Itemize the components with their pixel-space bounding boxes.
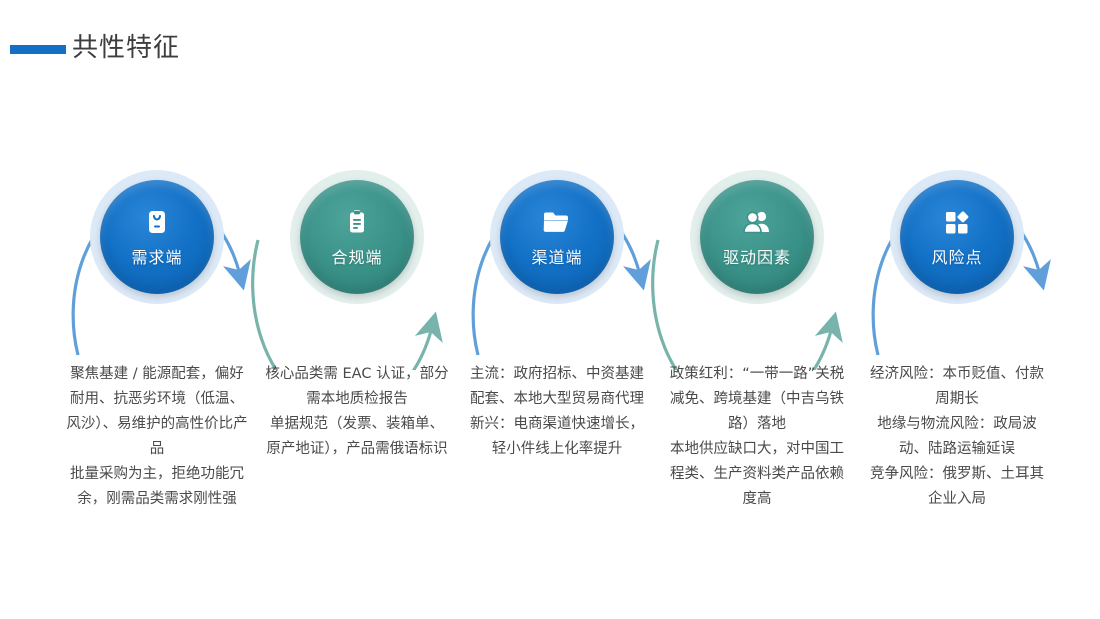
caption-block-3: 主流：政府招标、中资基建配套、本地大型贸易商代理 新兴：电商渠道快速增长，轻小件…	[464, 362, 650, 462]
caption-line: 单据规范（发票、装箱单、原产地证），产品需俄语标识	[264, 412, 450, 462]
users-icon	[742, 207, 772, 237]
caption-line: 本地供应缺口大，对中国工程类、生产资料类产品依赖度高	[664, 437, 850, 512]
caption-line: 核心品类需 EAC 认证，部分需本地质检报告	[264, 362, 450, 412]
title-accent-bar	[10, 45, 66, 54]
page-title: 共性特征	[72, 28, 180, 68]
clipboard-icon	[342, 207, 372, 237]
flow-node-3[interactable]: 渠道端	[490, 170, 624, 304]
node-label: 合规端	[331, 244, 382, 268]
node-label: 需求端	[131, 244, 182, 268]
node-disc: 风险点	[900, 180, 1014, 294]
node-disc: 驱动因素	[700, 180, 814, 294]
caption-line: 政策红利：“一带一路”关税减免、跨境基建（中吉乌铁路）落地	[664, 362, 850, 437]
node-disc: 合规端	[300, 180, 414, 294]
caption-row: 聚焦基建 / 能源配套，偏好耐用、抗恶劣环境（低温、风沙）、易维护的高性价比产品…	[0, 362, 1100, 612]
process-flow-diagram: 需求端 合规端	[0, 110, 1100, 370]
caption-block-2: 核心品类需 EAC 认证，部分需本地质检报告 单据规范（发票、装箱单、原产地证）…	[264, 362, 450, 462]
caption-block-5: 经济风险：本币贬值、付款周期长 地缘与物流风险：政局波动、陆路运输延误 竞争风险…	[864, 362, 1050, 512]
flow-node-1[interactable]: 需求端	[90, 170, 224, 304]
flow-node-4[interactable]: 驱动因素	[690, 170, 824, 304]
open-folder-icon	[542, 207, 572, 237]
page-header: 共性特征	[0, 0, 1100, 95]
node-label: 驱动因素	[723, 244, 791, 268]
caption-line: 聚焦基建 / 能源配套，偏好耐用、抗恶劣环境（低温、风沙）、易维护的高性价比产品	[64, 362, 250, 462]
flow-node-5[interactable]: 风险点	[890, 170, 1024, 304]
grid-squares-icon	[942, 207, 972, 237]
caption-line: 经济风险：本币贬值、付款周期长	[864, 362, 1050, 412]
caption-block-4: 政策红利：“一带一路”关税减免、跨境基建（中吉乌铁路）落地 本地供应缺口大，对中…	[664, 362, 850, 512]
shopping-bag-icon	[142, 207, 172, 237]
caption-line: 批量采购为主，拒绝功能冗余，刚需品类需求刚性强	[64, 462, 250, 512]
caption-line: 主流：政府招标、中资基建配套、本地大型贸易商代理	[464, 362, 650, 412]
node-label: 风险点	[931, 244, 982, 268]
node-disc: 渠道端	[500, 180, 614, 294]
node-disc: 需求端	[100, 180, 214, 294]
caption-block-1: 聚焦基建 / 能源配套，偏好耐用、抗恶劣环境（低温、风沙）、易维护的高性价比产品…	[64, 362, 250, 512]
node-label: 渠道端	[531, 244, 582, 268]
flow-node-2[interactable]: 合规端	[290, 170, 424, 304]
caption-line: 新兴：电商渠道快速增长，轻小件线上化率提升	[464, 412, 650, 462]
caption-line: 竞争风险：俄罗斯、土耳其企业入局	[864, 462, 1050, 512]
caption-line: 地缘与物流风险：政局波动、陆路运输延误	[864, 412, 1050, 462]
